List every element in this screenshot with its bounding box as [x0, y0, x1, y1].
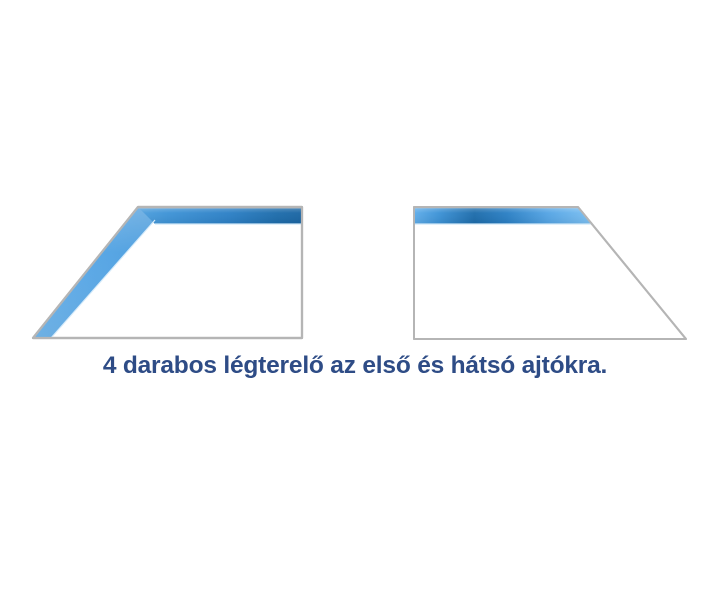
product-caption: 4 darabos légterelő az első és hátsó ajt… [0, 352, 710, 380]
rear-deflector-top-band-shade [414, 207, 592, 224]
rear-door-deflector [414, 207, 686, 339]
front-deflector-top-band-shade [138, 207, 302, 224]
front-deflector-outline [33, 207, 302, 338]
front-door-deflector [33, 207, 302, 338]
rear-deflector-outline [414, 207, 686, 339]
wind-deflector-diagram [0, 0, 710, 613]
